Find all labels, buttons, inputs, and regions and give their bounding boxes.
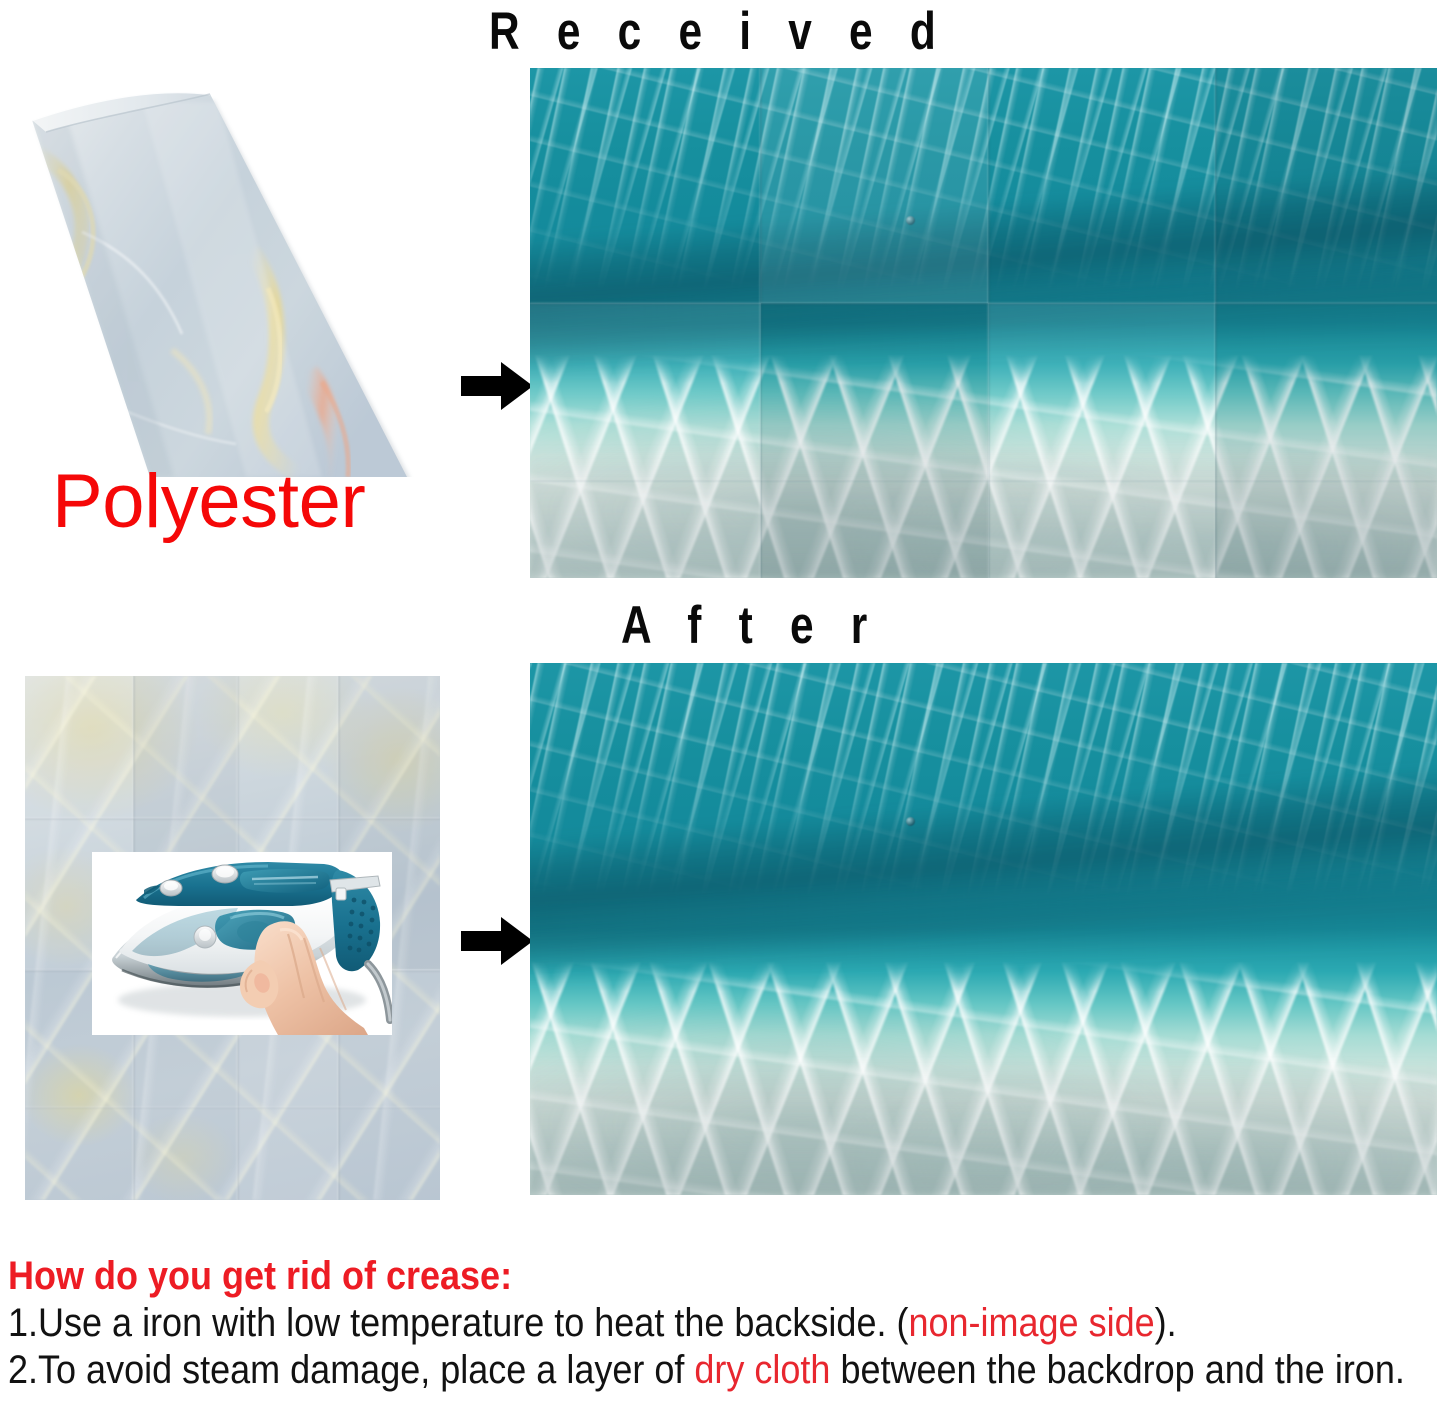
iron-inset-panel xyxy=(92,852,392,1035)
material-label-polyester: Polyester xyxy=(52,459,365,545)
section-title-received: R e c e i v e d xyxy=(489,2,948,62)
right-arrow-icon xyxy=(461,360,533,412)
section-title-after: A f t e r xyxy=(621,596,880,656)
care-line-2-highlight: dry cloth xyxy=(694,1348,830,1392)
care-line-2-part-b: between the backdrop and the iron. xyxy=(830,1348,1404,1392)
care-instruction-line-2: 2.To avoid steam damage, place a layer o… xyxy=(8,1347,1294,1394)
care-instructions-heading: How do you get rid of crease: xyxy=(8,1252,1294,1300)
care-instructions: How do you get rid of crease: 1.Use a ir… xyxy=(8,1252,1437,1394)
sea-floor-shading xyxy=(530,445,1437,578)
after-backdrop-photo xyxy=(530,663,1437,1195)
folded-swatch-illustration xyxy=(22,82,417,477)
sea-floor-shading xyxy=(530,1057,1437,1195)
fabric-swatch-image xyxy=(22,82,417,477)
care-line-1-highlight: non-image side xyxy=(908,1301,1154,1345)
care-line-2-part-a: 2.To avoid steam damage, place a layer o… xyxy=(8,1348,694,1392)
received-backdrop-photo xyxy=(530,68,1437,578)
steam-iron-with-hand-illustration xyxy=(92,852,392,1035)
right-arrow-icon xyxy=(461,915,533,967)
care-instruction-line-1: 1.Use a iron with low temperature to hea… xyxy=(8,1300,1294,1347)
infographic-root: R e c e i v e d xyxy=(0,0,1437,1401)
care-line-1-part-a: 1.Use a iron with low temperature to hea… xyxy=(8,1301,908,1345)
care-line-1-part-b: ). xyxy=(1155,1301,1177,1345)
